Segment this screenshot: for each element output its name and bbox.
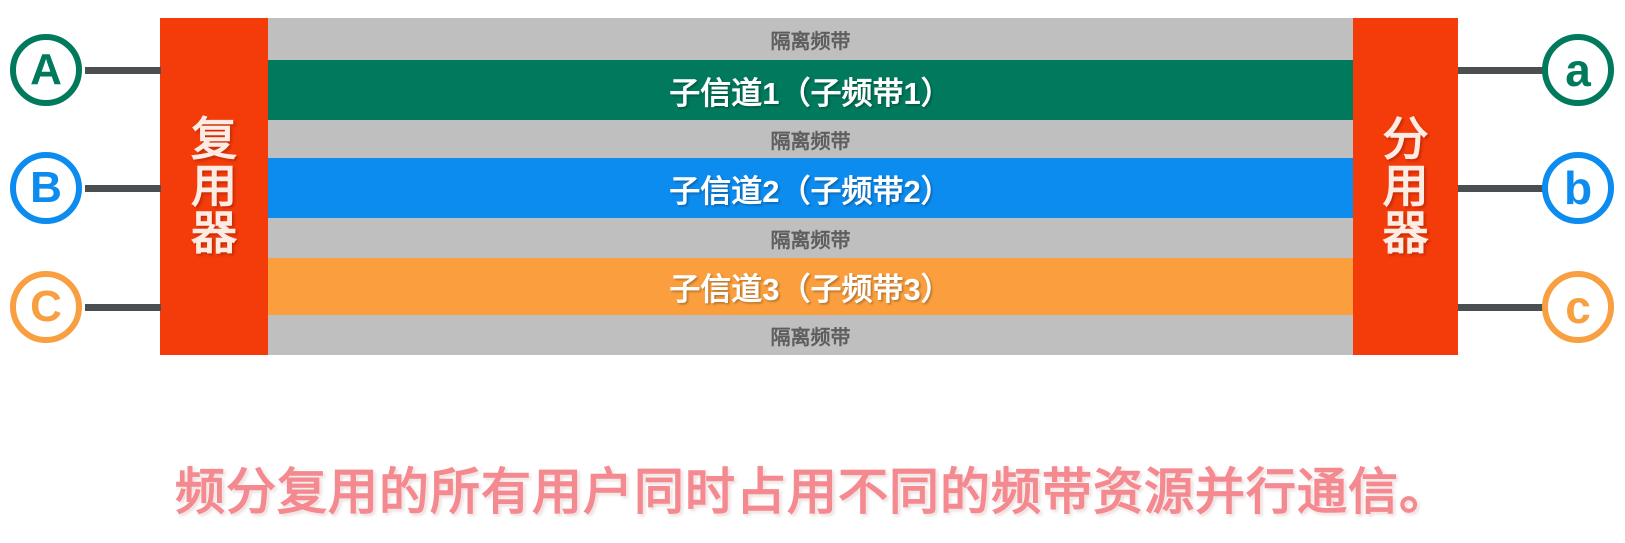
subchannel-2-label: 子信道2（子频带2） — [669, 166, 951, 211]
wire-output-b — [1458, 185, 1544, 192]
wire-output-a — [1458, 67, 1544, 74]
guard-band-1-label: 隔离频带 — [771, 25, 851, 54]
subchannel-2-band: 子信道2（子频带2） — [268, 158, 1353, 218]
input-node-b[interactable]: B — [10, 152, 82, 224]
subchannel-3-label: 子信道3（子频带3） — [669, 264, 951, 309]
guard-band-3: 隔离频带 — [268, 218, 1353, 258]
guard-band-1: 隔离频带 — [268, 18, 1353, 60]
output-node-c[interactable]: c — [1542, 271, 1614, 343]
multiplexer-char-3: 器 — [191, 210, 237, 257]
frequency-band-stack: 隔离频带 子信道1（子频带1） 隔离频带 子信道2（子频带2） 隔离频带 子信道… — [268, 18, 1353, 355]
guard-band-4: 隔离频带 — [268, 315, 1353, 355]
subchannel-1-band: 子信道1（子频带1） — [268, 60, 1353, 120]
diagram-canvas: 复 用 器 隔离频带 子信道1（子频带1） 隔离频带 子信道2（子频带2） 隔离… — [0, 0, 1625, 543]
wire-input-c — [85, 304, 161, 311]
input-node-c-label: C — [30, 285, 62, 329]
subchannel-1-label: 子信道1（子频带1） — [669, 68, 951, 113]
output-node-b-label: b — [1564, 165, 1592, 211]
multiplexer-box: 复 用 器 — [160, 18, 268, 355]
guard-band-2-label: 隔离频带 — [771, 125, 851, 154]
caption-text: 频分复用的所有用户同时占用不同的频带资源并行通信。 — [0, 452, 1625, 524]
output-node-a-label: a — [1565, 47, 1591, 93]
wire-output-c — [1458, 304, 1544, 311]
demultiplexer-char-3: 器 — [1383, 210, 1429, 257]
guard-band-2: 隔离频带 — [268, 120, 1353, 158]
output-node-b[interactable]: b — [1542, 152, 1614, 224]
wire-input-b — [85, 185, 161, 192]
input-node-c[interactable]: C — [10, 271, 82, 343]
demultiplexer-char-2: 用 — [1383, 163, 1429, 210]
subchannel-3-band: 子信道3（子频带3） — [268, 258, 1353, 315]
input-node-a-label: A — [30, 48, 62, 92]
multiplexer-char-1: 复 — [191, 116, 237, 163]
multiplexer-char-2: 用 — [191, 163, 237, 210]
output-node-c-label: c — [1565, 284, 1591, 330]
input-node-b-label: B — [30, 166, 62, 210]
wire-input-a — [85, 67, 161, 74]
demultiplexer-box: 分 用 器 — [1353, 18, 1458, 355]
input-node-a[interactable]: A — [10, 34, 82, 106]
guard-band-4-label: 隔离频带 — [771, 321, 851, 350]
demultiplexer-char-1: 分 — [1383, 116, 1429, 163]
guard-band-3-label: 隔离频带 — [771, 224, 851, 253]
output-node-a[interactable]: a — [1542, 34, 1614, 106]
